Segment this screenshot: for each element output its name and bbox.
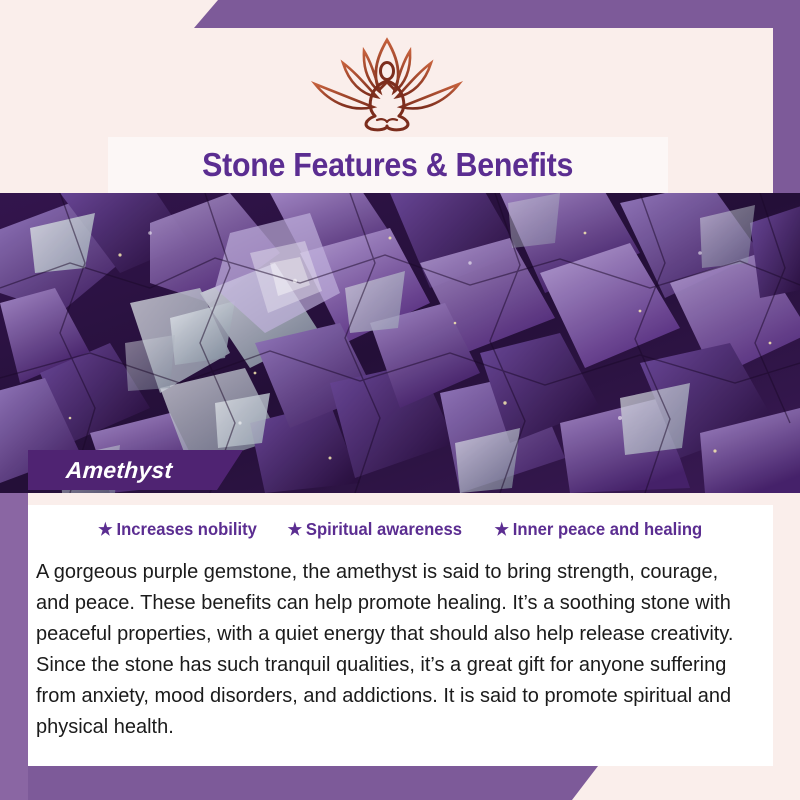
lotus-meditation-icon — [301, 34, 473, 132]
benefit-label: Inner peace and healing — [512, 519, 701, 540]
frame-bottom-band — [0, 766, 800, 800]
frame-left-stripe — [0, 489, 28, 800]
frame-top-band — [0, 0, 800, 28]
benefit-item-0: ★ Increases nobility — [98, 519, 257, 540]
benefit-label: Increases nobility — [116, 519, 256, 540]
benefits-row: ★ Increases nobility ★ Spiritual awarene… — [28, 519, 773, 540]
stone-description: A gorgeous purple gemstone, the amethyst… — [36, 556, 748, 742]
title-bar: Stone Features & Benefits — [108, 137, 668, 193]
stone-name-banner: Amethyst — [28, 450, 243, 490]
benefit-item-2: ★ Inner peace and healing — [494, 519, 702, 540]
star-icon: ★ — [98, 521, 112, 538]
benefit-label: Spiritual awareness — [306, 519, 462, 540]
hero-image-amethyst — [0, 193, 800, 493]
stone-name-label: Amethyst — [27, 457, 173, 484]
cream-divider-strip — [28, 493, 773, 505]
brand-logo: BUDDHA STONES — [301, 34, 473, 152]
benefit-item-1: ★ Spiritual awareness — [287, 519, 461, 540]
page-title: Stone Features & Benefits — [202, 146, 573, 184]
star-icon: ★ — [287, 521, 301, 538]
star-icon: ★ — [494, 521, 508, 538]
